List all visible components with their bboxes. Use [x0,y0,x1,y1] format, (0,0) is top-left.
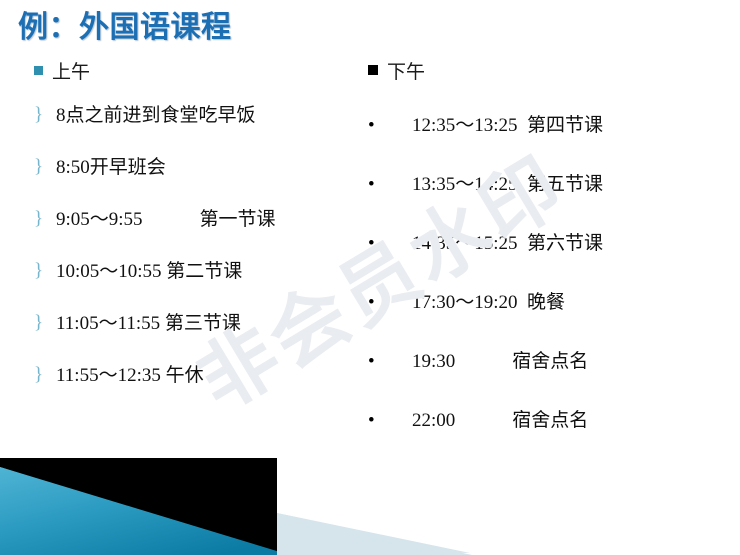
list-item-label: 13:35～14:25 第五节课 [412,172,603,198]
curly-brace-bullet-icon: } [34,155,56,179]
list-item: • 17:30～19:20 晚餐 [368,290,740,316]
round-dot-bullet-icon: • [368,408,412,434]
round-dot-bullet-icon: • [368,231,412,257]
page-title: 例：外国语课程 [18,8,232,48]
list-item-label: 14:35～15:25 第六节课 [412,231,603,257]
list-item: } 8点之前进到食堂吃早饭 [34,103,364,129]
list-item-label: 17:30～19:20 晚餐 [412,290,565,316]
list-item-label: 9:05～9:55 第一节课 [56,207,276,233]
curly-brace-bullet-icon: } [34,311,56,335]
list-item: • 22:00 宿舍点名 [368,408,740,434]
teal-band-shape [0,467,277,555]
teal-band-fill [0,467,290,555]
curly-brace-bullet-icon: } [34,103,56,127]
round-dot-bullet-icon: • [368,172,412,198]
list-item-label: 8点之前进到食堂吃早饭 [56,103,256,129]
list-item: } 8:50开早班会 [34,155,364,181]
list-item-label: 11:55～12:35 午休 [56,363,204,389]
list-item-label: 8:50开早班会 [56,155,166,181]
list-item: } 9:05～9:55 第一节课 [34,207,364,233]
square-bullet-icon [368,65,378,75]
morning-header: 上午 [34,55,364,85]
morning-column: 上午 } 8点之前进到食堂吃早饭 } 8:50开早班会 } 9:05～9:55 … [34,55,364,415]
curly-brace-bullet-icon: } [34,259,56,283]
pale-blue-wedge-fill [277,513,472,555]
list-item: • 12:35～13:25 第四节课 [368,113,740,139]
morning-item-list: } 8点之前进到食堂吃早饭 } 8:50开早班会 } 9:05～9:55 第一节… [34,103,364,389]
round-dot-bullet-icon: • [368,113,412,139]
list-item-label: 19:30 宿舍点名 [412,349,588,375]
afternoon-header: 下午 [368,55,740,85]
round-dot-bullet-icon: • [368,290,412,316]
list-item-label: 22:00 宿舍点名 [412,408,588,434]
list-item-label: 12:35～13:25 第四节课 [412,113,603,139]
list-item: } 11:05～11:55 第三节课 [34,311,364,337]
square-bullet-icon [34,66,43,75]
curly-brace-bullet-icon: } [34,363,56,387]
list-item: • 14:35～15:25 第六节课 [368,231,740,257]
list-item-label: 10:05～10:55 第二节课 [56,259,242,285]
afternoon-column: 下午 • 12:35～13:25 第四节课 • 13:35～14:25 第五节课… [368,55,740,467]
afternoon-header-label: 下午 [387,57,425,84]
morning-header-label: 上午 [52,57,90,84]
pale-blue-wedge-shape [277,513,470,553]
list-item: } 11:55～12:35 午休 [34,363,364,389]
list-item: • 19:30 宿舍点名 [368,349,740,375]
curly-brace-bullet-icon: } [34,207,56,231]
afternoon-item-list: • 12:35～13:25 第四节课 • 13:35～14:25 第五节课 • … [368,113,740,434]
round-dot-bullet-icon: • [368,349,412,375]
list-item-label: 11:05～11:55 第三节课 [56,311,241,337]
list-item: • 13:35～14:25 第五节课 [368,172,740,198]
list-item: } 10:05～10:55 第二节课 [34,259,364,285]
black-banner-shape [0,458,277,555]
slide-canvas: 例：外国语课程 上午 } 8点之前进到食堂吃早饭 } 8:50开早班会 } 9:… [0,0,740,555]
